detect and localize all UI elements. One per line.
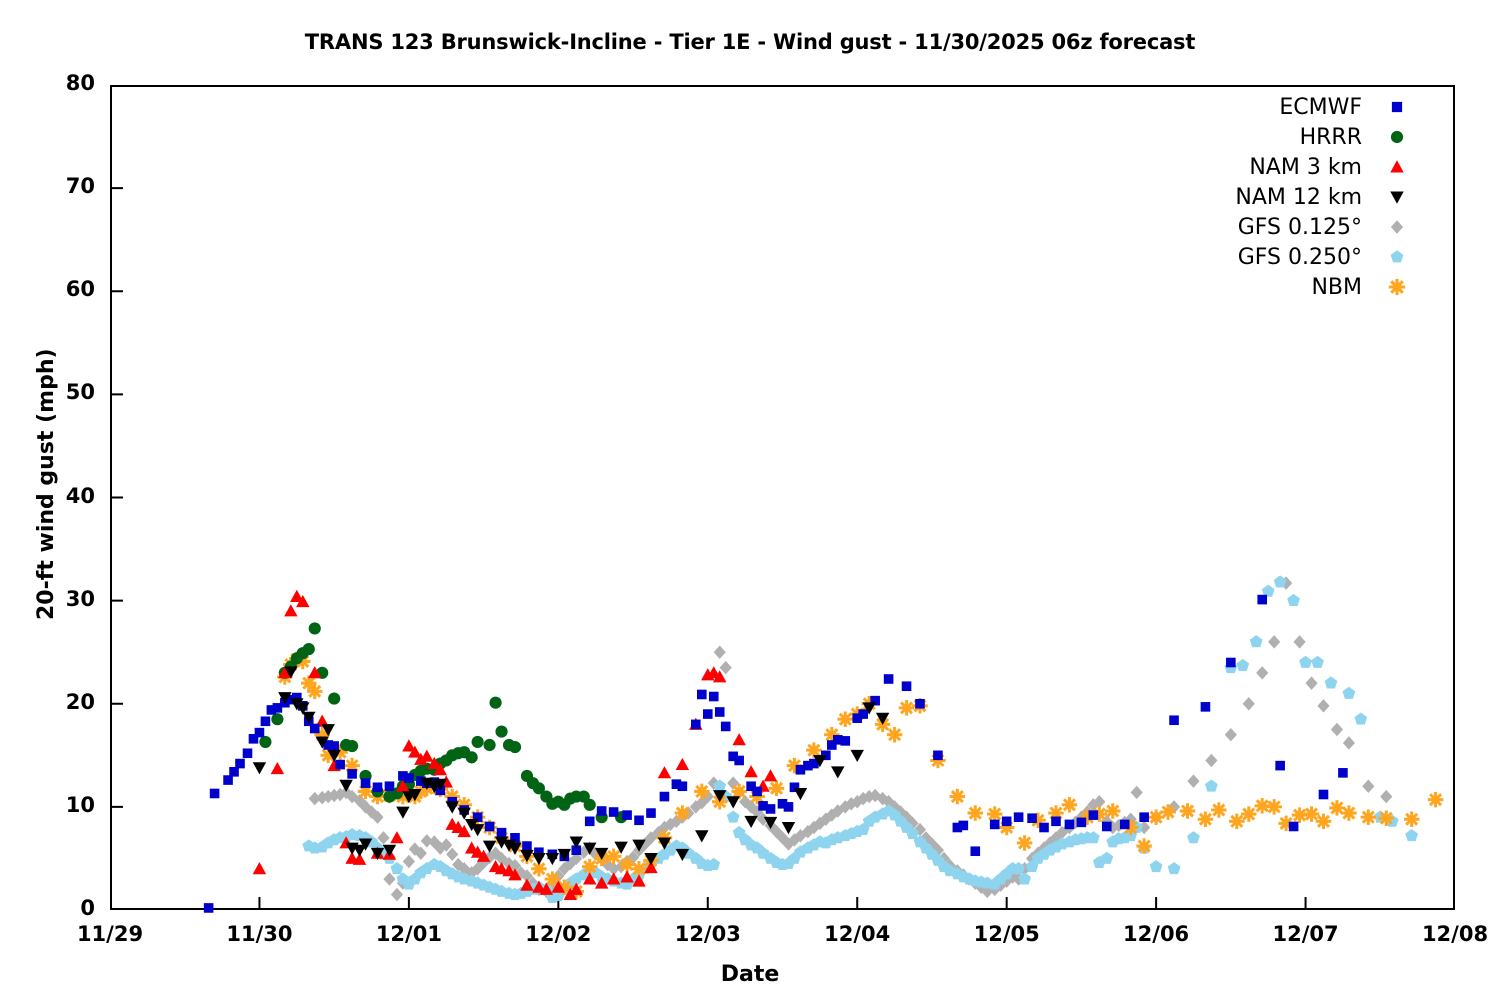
y-tick-label: 80 <box>25 71 95 95</box>
legend-item-hrrr[interactable]: HRRR <box>1150 122 1410 152</box>
x-tick-label: 12/05 <box>937 922 1077 946</box>
x-tick-label: 12/04 <box>787 922 927 946</box>
legend-item-nam-12-km[interactable]: NAM 12 km <box>1150 182 1410 212</box>
x-axis-title: Date <box>0 962 1500 987</box>
x-tick-label: 12/07 <box>1236 922 1376 946</box>
y-tick-label: 20 <box>25 690 95 714</box>
x-tick-label: 12/02 <box>488 922 628 946</box>
legend-marker-diamond-icon <box>1384 214 1410 240</box>
x-tick-label: 12/03 <box>638 922 778 946</box>
x-tick-label: 11/30 <box>189 922 329 946</box>
x-tick-label: 12/08 <box>1385 922 1500 946</box>
legend-item-nbm[interactable]: NBM <box>1150 272 1410 302</box>
y-tick-label: 0 <box>25 896 95 920</box>
legend-item-gfs-0-125[interactable]: GFS 0.125° <box>1150 212 1410 242</box>
y-tick-label: 10 <box>25 793 95 817</box>
legend-marker-triangle-down-icon <box>1384 184 1410 210</box>
legend-label: NAM 12 km <box>1150 185 1384 210</box>
chart-page: TRANS 123 Brunswick-Incline - Tier 1E - … <box>0 0 1500 1000</box>
x-tick-label: 12/01 <box>339 922 479 946</box>
y-tick-label: 30 <box>25 587 95 611</box>
legend-marker-square-icon <box>1384 94 1410 120</box>
legend-label: NBM <box>1150 275 1384 300</box>
legend-item-nam-3-km[interactable]: NAM 3 km <box>1150 152 1410 182</box>
legend-label: ECMWF <box>1150 95 1384 120</box>
legend-label: HRRR <box>1150 125 1384 150</box>
y-tick-label: 60 <box>25 277 95 301</box>
legend-label: GFS 0.125° <box>1150 215 1384 240</box>
legend-marker-pentagon-icon <box>1384 244 1410 270</box>
legend-marker-triangle-up-icon <box>1384 154 1410 180</box>
legend-label: GFS 0.250° <box>1150 245 1384 270</box>
legend-item-gfs-0-250[interactable]: GFS 0.250° <box>1150 242 1410 272</box>
y-tick-label: 40 <box>25 484 95 508</box>
x-tick-label: 12/06 <box>1086 922 1226 946</box>
legend-item-ecmwf[interactable]: ECMWF <box>1150 92 1410 122</box>
chart-title: TRANS 123 Brunswick-Incline - Tier 1E - … <box>0 30 1500 54</box>
legend-marker-asterisk-icon <box>1384 274 1410 300</box>
y-tick-label: 70 <box>25 174 95 198</box>
legend-marker-circle-icon <box>1384 124 1410 150</box>
y-tick-label: 50 <box>25 380 95 404</box>
chart-legend: ECMWFHRRRNAM 3 kmNAM 12 kmGFS 0.125°GFS … <box>1150 92 1410 302</box>
x-tick-label: 11/29 <box>40 922 180 946</box>
legend-label: NAM 3 km <box>1150 155 1384 180</box>
